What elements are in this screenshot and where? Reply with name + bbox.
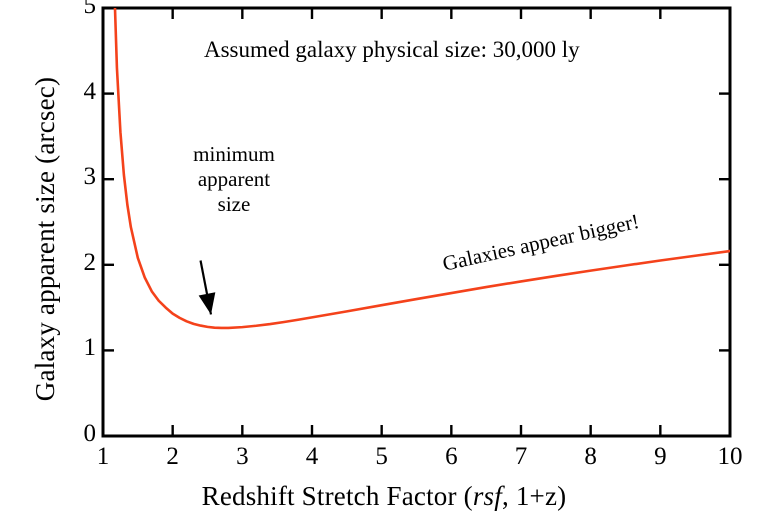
x-axis-title-italic-rsf: rsf [473,481,502,511]
x-tick-label: 3 [222,443,262,471]
x-tick-label: 5 [362,443,402,471]
x-tick-label: 2 [153,443,193,471]
minimum-label-line: apparent [174,167,294,192]
x-tick-label: 9 [640,443,680,471]
minimum-apparent-size-label: minimumapparentsize [174,142,294,218]
minimum-label-line: size [174,192,294,217]
x-axis-title: Redshift Stretch Factor (rsf, 1+z) [0,481,768,512]
minimum-pointer-arrow [199,261,216,315]
x-tick-label: 4 [292,443,332,471]
x-tick-label: 8 [571,443,611,471]
x-tick-label: 7 [501,443,541,471]
x-tick-label: 10 [710,443,750,471]
x-tick-label: 6 [431,443,471,471]
assumed-size-note: Assumed galaxy physical size: 30,000 ly [204,37,580,63]
y-axis-title: Galaxy apparent size (arcsec) [30,77,61,401]
y-axis-title-wrapper: Galaxy apparent size (arcsec) [25,0,65,503]
chart-figure: 12345678910 012345 Redshift Stretch Fact… [0,0,768,528]
minimum-label-line: minimum [174,142,294,167]
